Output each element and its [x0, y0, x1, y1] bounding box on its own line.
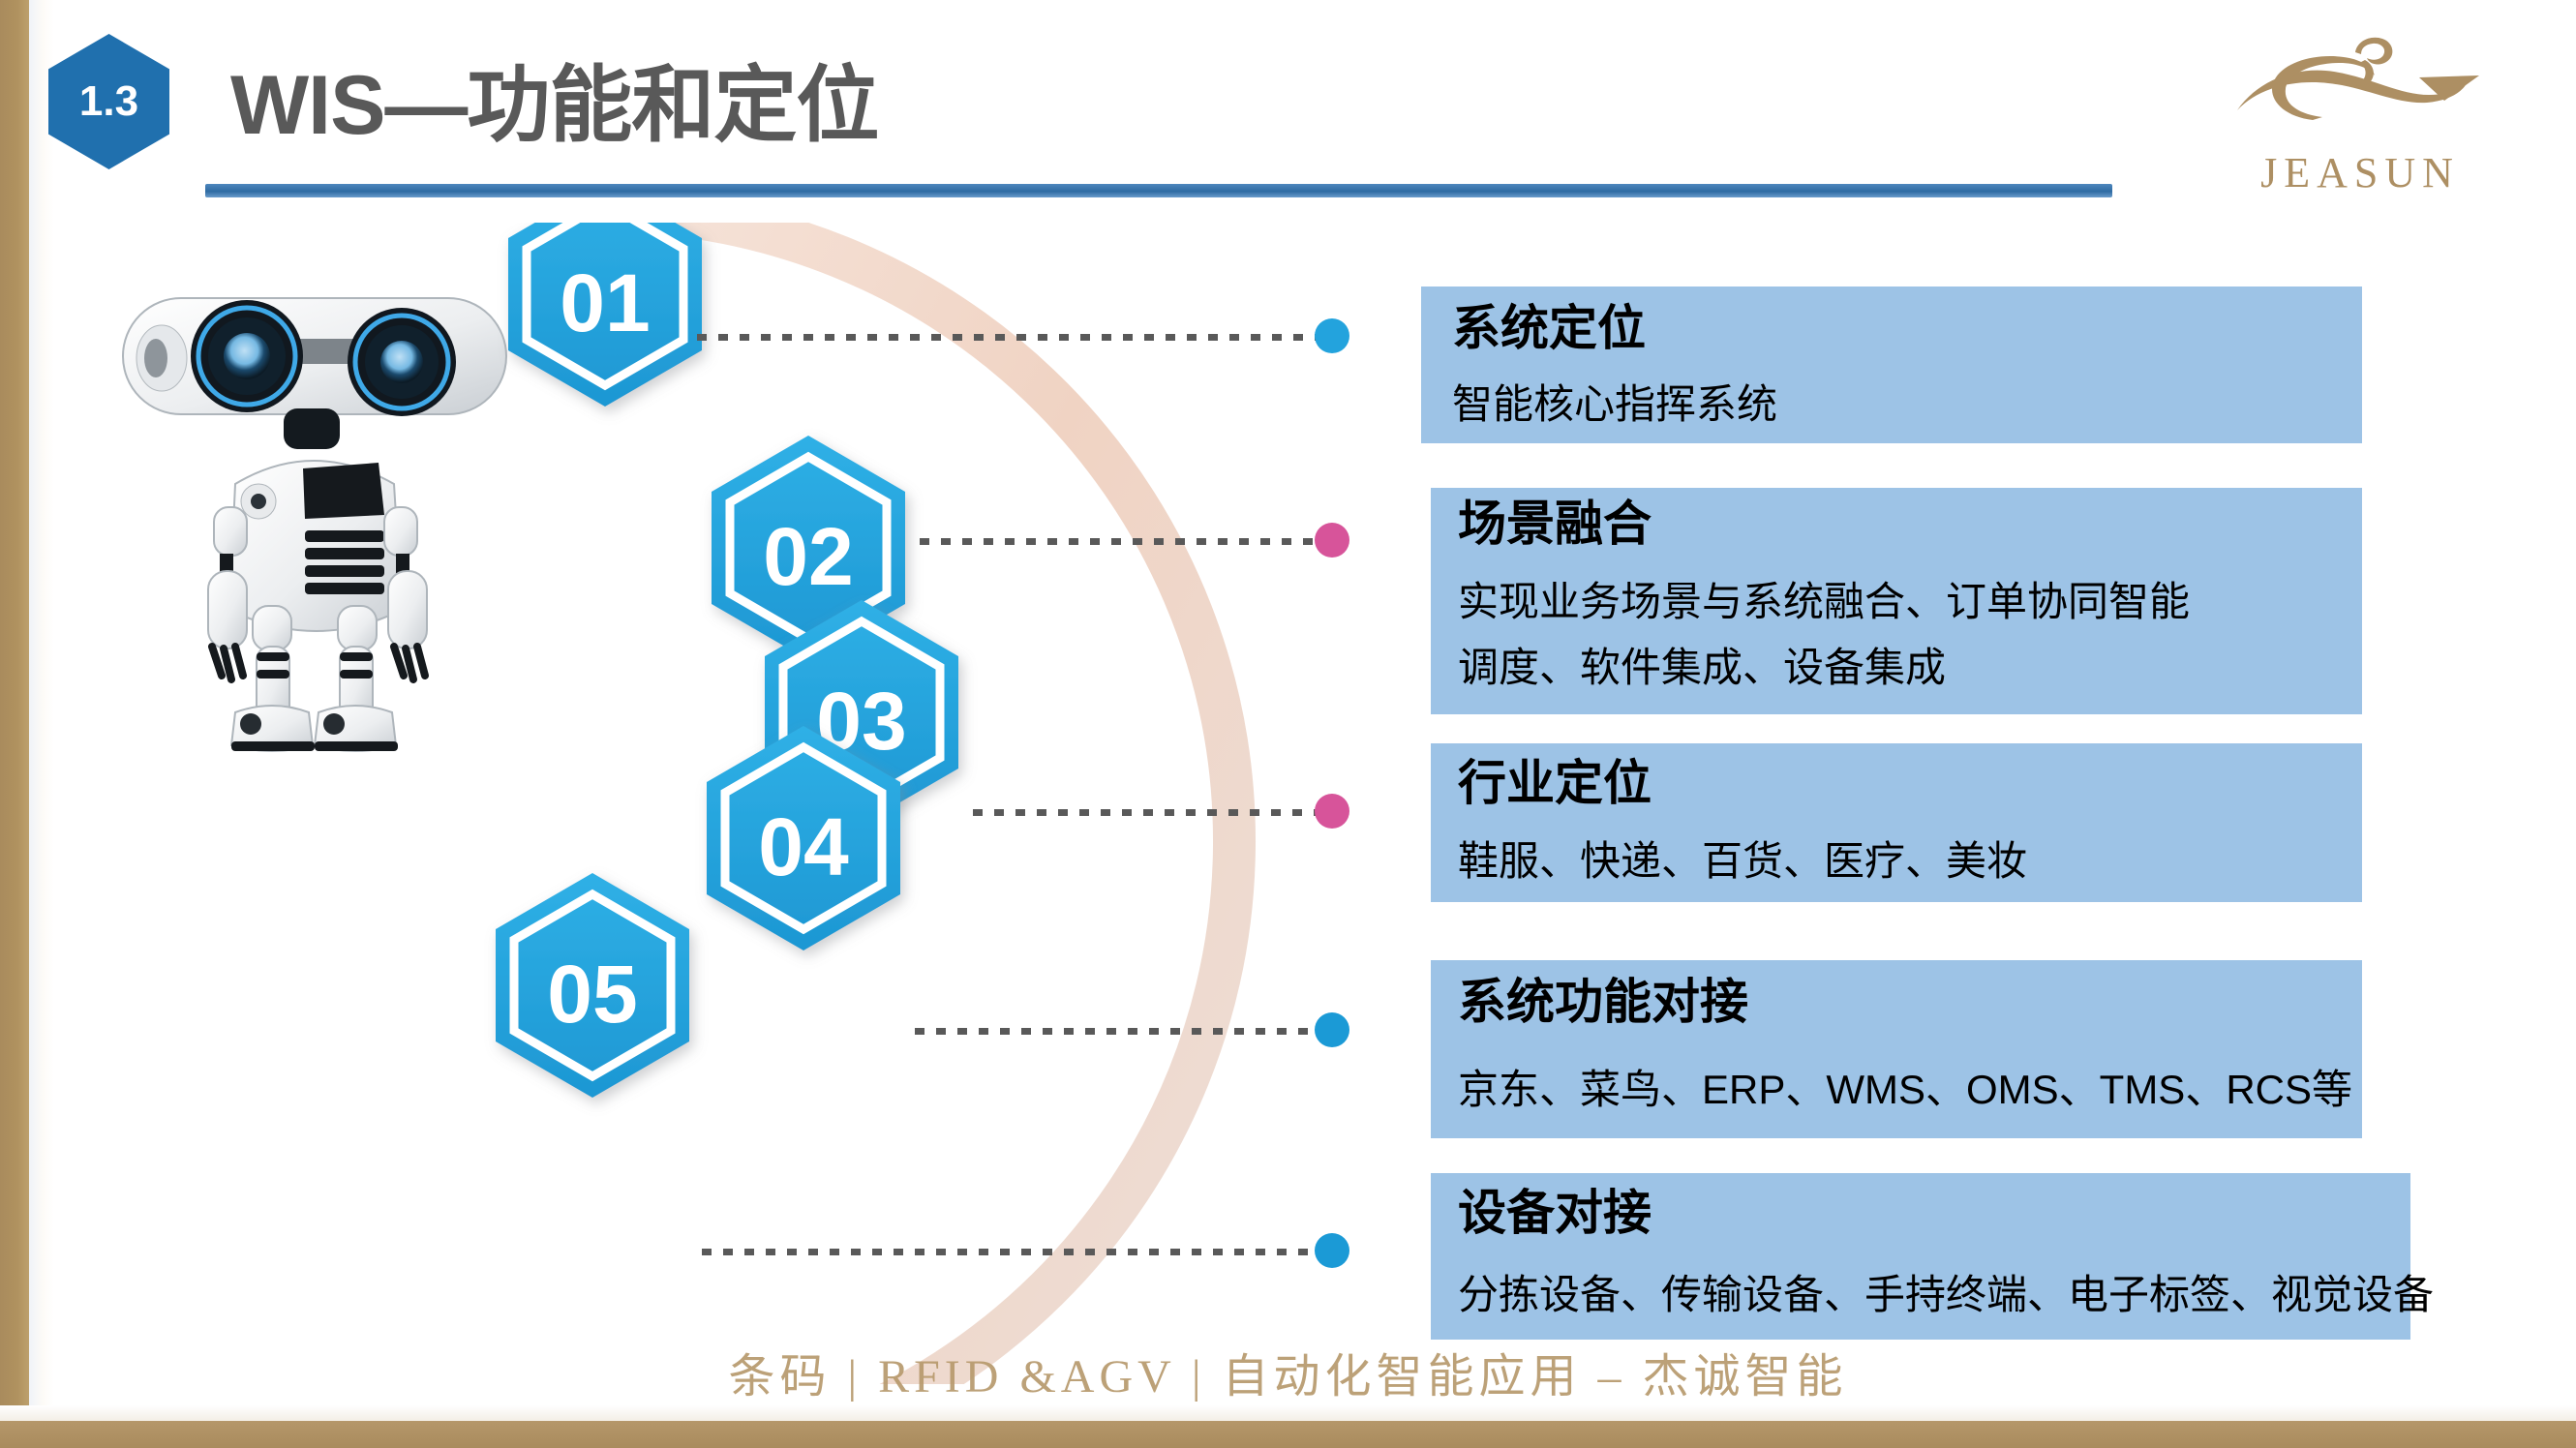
bottom-border-glow	[0, 1405, 2576, 1421]
connector-line-05	[702, 1249, 1317, 1255]
page-title: WIS—功能和定位	[230, 37, 878, 158]
slide-canvas: 1.3 WIS—功能和定位 JEASUN	[0, 0, 2576, 1448]
slide-header: 1.3 WIS—功能和定位	[0, 0, 2576, 223]
info-box-3-title: 行业定位	[1458, 759, 1652, 807]
info-box-1[interactable]: 系统定位 智能核心指挥系统	[1421, 287, 2362, 443]
info-box-5-line-1: 分拣设备、传输设备、手持终端、电子标签、视觉设备	[1458, 1266, 2434, 1324]
step-hexagon-01[interactable]: 01	[508, 223, 702, 407]
connector-dot-04	[1315, 1012, 1349, 1047]
info-box-2-line-2: 调度、软件集成、设备集成	[1458, 639, 1946, 697]
connector-dot-02	[1315, 523, 1349, 558]
info-box-2-line-1: 实现业务场景与系统融合、订单协同智能	[1458, 573, 2190, 631]
connector-line-03	[973, 809, 1317, 816]
svg-text:01: 01	[560, 257, 650, 348]
info-box-2[interactable]: 场景融合 实现业务场景与系统融合、订单协同智能 调度、软件集成、设备集成	[1431, 488, 2362, 714]
slide-footer: 条码 | RFID &AGV | 自动化智能应用 – 杰诚智能	[0, 1338, 2576, 1405]
logo-wordmark: JEASUN	[2220, 148, 2500, 197]
process-diagram: 01 02 03 04	[0, 223, 1452, 1384]
info-box-4-title: 系统功能对接	[1458, 978, 1748, 1026]
info-box-2-title: 场景融合	[1458, 499, 1652, 548]
title-underline-rule	[205, 184, 2112, 197]
info-box-5-title: 设备对接	[1458, 1189, 1652, 1237]
step-hexagon-05[interactable]: 05	[496, 873, 689, 1098]
svg-text:02: 02	[763, 511, 853, 602]
info-box-5[interactable]: 设备对接 分拣设备、传输设备、手持终端、电子标签、视觉设备	[1431, 1173, 2410, 1340]
bottom-gold-border	[0, 1421, 2576, 1448]
info-box-4[interactable]: 系统功能对接 京东、菜鸟、ERP、WMS、OMS、TMS、RCS等	[1431, 960, 2362, 1138]
connector-dot-03	[1315, 794, 1349, 829]
footer-tagline: 条码 | RFID &AGV | 自动化智能应用 – 杰诚智能	[728, 1338, 1847, 1405]
connector-dot-01	[1315, 318, 1349, 353]
section-number-badge: 1.3	[48, 34, 169, 169]
connector-line-04	[915, 1028, 1317, 1035]
step-hexagons-group: 01 02 03 04	[0, 223, 1404, 1384]
section-number-label: 1.3	[79, 80, 138, 123]
info-box-4-line-1: 京东、菜鸟、ERP、WMS、OMS、TMS、RCS等	[1458, 1061, 2352, 1119]
brand-logo: JEASUN	[2220, 27, 2500, 201]
info-box-3-line-1: 鞋服、快递、百货、医疗、美妆	[1458, 832, 2027, 890]
svg-text:04: 04	[758, 801, 849, 892]
info-box-1-line-1: 智能核心指挥系统	[1452, 376, 1777, 434]
info-box-3[interactable]: 行业定位 鞋服、快递、百货、医疗、美妆	[1431, 743, 2362, 902]
jeasun-swoosh-icon	[2220, 27, 2500, 153]
info-box-1-title: 系统定位	[1452, 304, 1646, 352]
connector-line-01	[697, 334, 1317, 341]
connector-dot-05	[1315, 1233, 1349, 1268]
svg-text:05: 05	[547, 949, 637, 1040]
connector-line-02	[920, 538, 1317, 545]
